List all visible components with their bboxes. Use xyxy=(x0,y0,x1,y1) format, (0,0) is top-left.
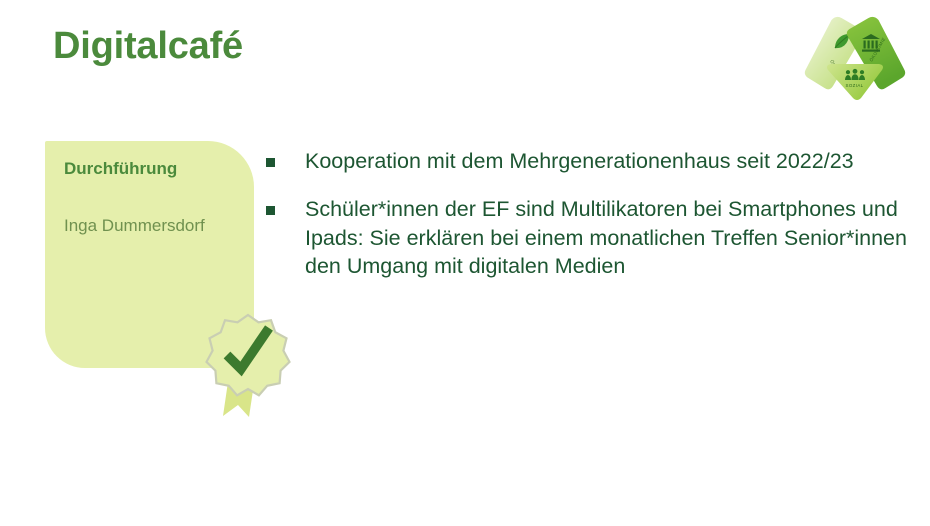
slide-canvas: Digitalcafé xyxy=(0,0,930,526)
list-item-text: Kooperation mit dem Mehrgenerationenhaus… xyxy=(305,147,911,175)
sustainability-triangle-logo: ÖKOLOGIE ÖKONOMIE xyxy=(800,12,910,104)
bullet-list: Kooperation mit dem Mehrgenerationenhaus… xyxy=(266,147,911,281)
info-card-heading: Durchführung xyxy=(64,159,177,179)
check-seal-badge xyxy=(203,313,293,421)
list-item: Schüler*innen der EF sind Multilikatoren… xyxy=(266,195,911,280)
list-item: Kooperation mit dem Mehrgenerationenhaus… xyxy=(266,147,911,175)
info-card-person-name: Inga Dummersdorf xyxy=(64,215,239,237)
logo-label-sozial: SOZIAL xyxy=(846,83,864,88)
logo-segment-sozial: SOZIAL xyxy=(827,64,883,100)
page-title: Digitalcafé xyxy=(53,26,243,68)
list-item-text: Schüler*innen der EF sind Multilikatoren… xyxy=(305,195,911,280)
square-bullet-icon xyxy=(266,206,275,215)
square-bullet-icon xyxy=(266,158,275,167)
